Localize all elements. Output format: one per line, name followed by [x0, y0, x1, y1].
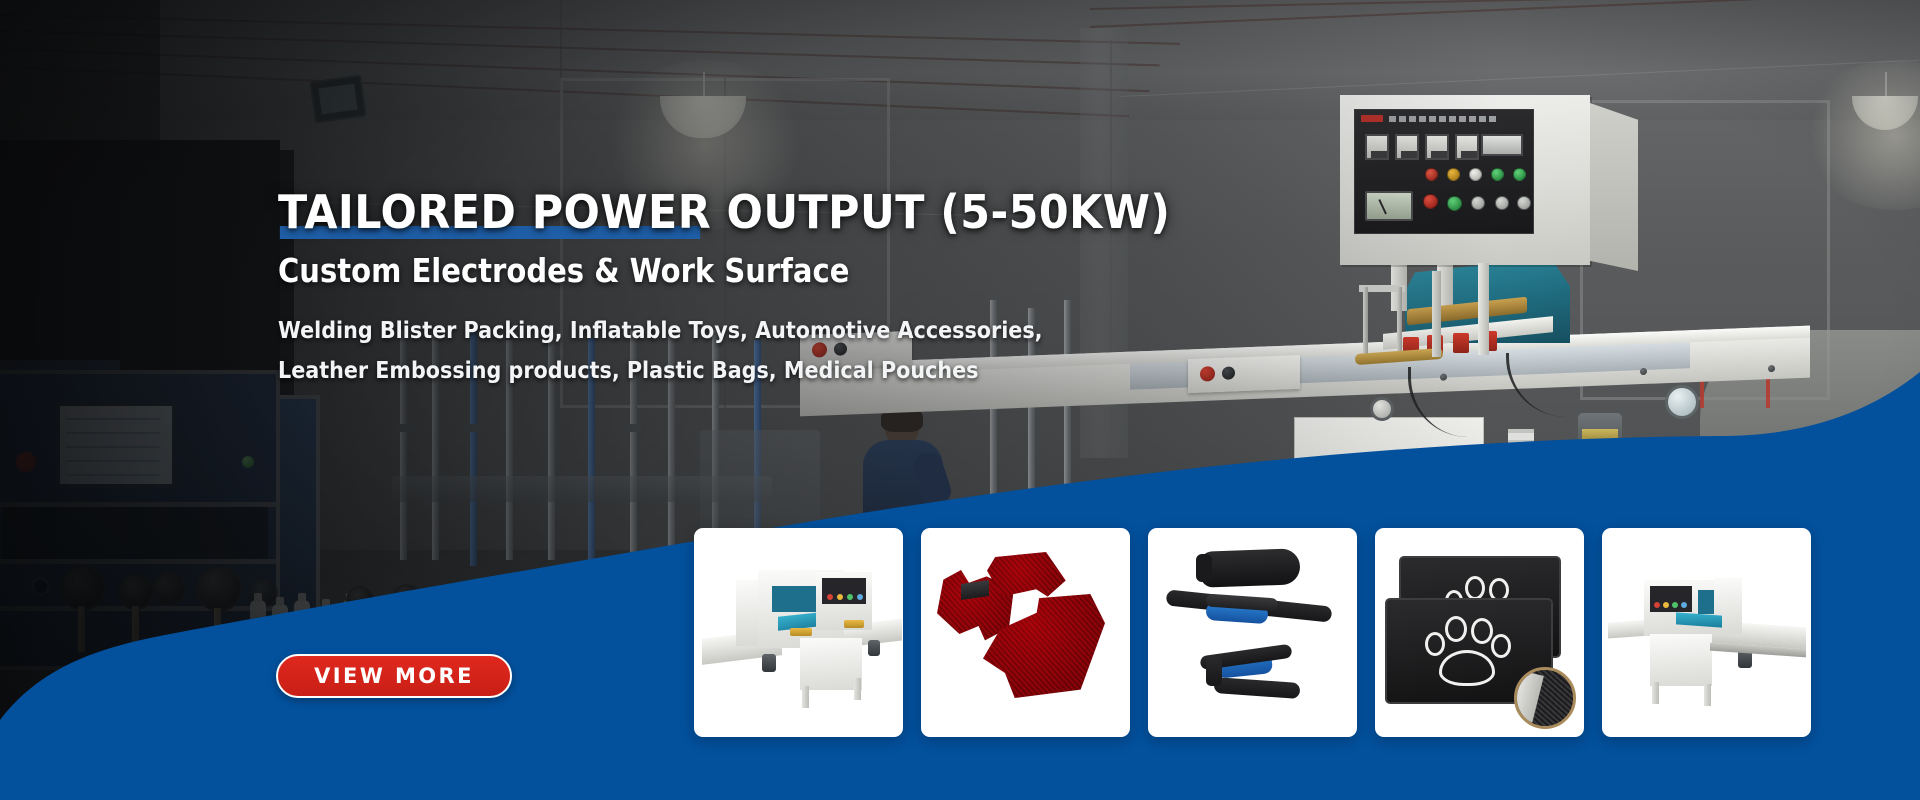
indicator-led-red	[1425, 168, 1438, 181]
hero-copy: TAILORED POWER OUTPUT (5-50KW) Custom El…	[278, 188, 1278, 391]
gauge-stem	[214, 608, 221, 652]
view-more-label: VIEW MORE	[314, 664, 474, 688]
pressure-gauge	[152, 572, 186, 606]
description-line-1: Welding Blister Packing, Inflatable Toys…	[278, 312, 1178, 352]
headline-text: TAILORED POWER OUTPUT (5-50KW)	[278, 185, 1170, 239]
control-panel	[1354, 109, 1534, 234]
machine-control-cabinet	[1340, 95, 1590, 265]
cabinet-touchscreen	[56, 402, 176, 488]
thumbnail-card-pet-mats[interactable]	[1375, 528, 1584, 737]
analog-meter	[1365, 191, 1413, 221]
circuit-breaker	[1400, 493, 1434, 509]
emergency-stop-icon	[16, 452, 36, 472]
description-line-2: Leather Embossing products, Plastic Bags…	[278, 352, 1178, 392]
indicator-led-white	[1469, 168, 1482, 181]
page-title: TAILORED POWER OUTPUT (5-50KW)	[278, 188, 1170, 237]
welding-head-assembly	[1345, 263, 1575, 363]
dark-corner	[0, 0, 160, 160]
indicator-led-green	[1491, 168, 1504, 181]
thumbnail-card-support-braces[interactable]	[1148, 528, 1357, 737]
power-led-icon	[242, 456, 254, 468]
gauge-stem	[132, 606, 139, 648]
blue-control-cabinet	[0, 370, 280, 670]
subheadline: Custom Electrodes & Work Surface	[278, 251, 1158, 291]
base-pressure-gauge	[1370, 397, 1394, 421]
high-frequency-welding-machine-image	[694, 528, 903, 737]
pipe-clamp	[626, 424, 641, 432]
yellow-guard-bar	[1355, 348, 1444, 365]
caster-wheel	[1552, 477, 1574, 499]
valve	[346, 586, 374, 614]
indicator-led-amber	[1447, 168, 1460, 181]
floodlight-icon	[309, 75, 366, 124]
valve	[444, 588, 470, 614]
hero-banner: TAILORED POWER OUTPUT (5-50KW) Custom El…	[0, 0, 1920, 800]
start-button	[1423, 194, 1438, 209]
gauge-stem	[78, 606, 85, 652]
product-thumbnail-strip	[694, 528, 1811, 737]
pressure-gauge	[118, 574, 154, 610]
thumbnail-card-welding-machine[interactable]	[694, 528, 903, 737]
support-braces-image	[1148, 528, 1357, 737]
indicator-led-green	[1513, 168, 1526, 181]
pipe-clamp	[396, 424, 411, 432]
digital-display	[1481, 134, 1523, 156]
black-pet-paw-mats-image	[1375, 528, 1584, 737]
thumbnail-card-conveyor-machine[interactable]	[1602, 528, 1811, 737]
thumbnail-card-car-mats[interactable]	[921, 528, 1130, 737]
stop-button	[1447, 196, 1462, 211]
factory-worker	[855, 408, 950, 528]
pressure-gauge	[60, 565, 106, 611]
pressure-gauge	[196, 566, 242, 612]
pipe-clamp	[466, 424, 481, 432]
red-coil-car-floor-mats-image	[921, 528, 1130, 737]
conveyor-welding-machine-image	[1602, 528, 1811, 737]
valve	[392, 584, 422, 614]
conveyor-motor	[1578, 413, 1622, 467]
material-closeup-inset	[1514, 667, 1576, 729]
view-more-button[interactable]: VIEW MORE	[276, 654, 512, 698]
description: Welding Blister Packing, Inflatable Toys…	[278, 312, 1178, 391]
